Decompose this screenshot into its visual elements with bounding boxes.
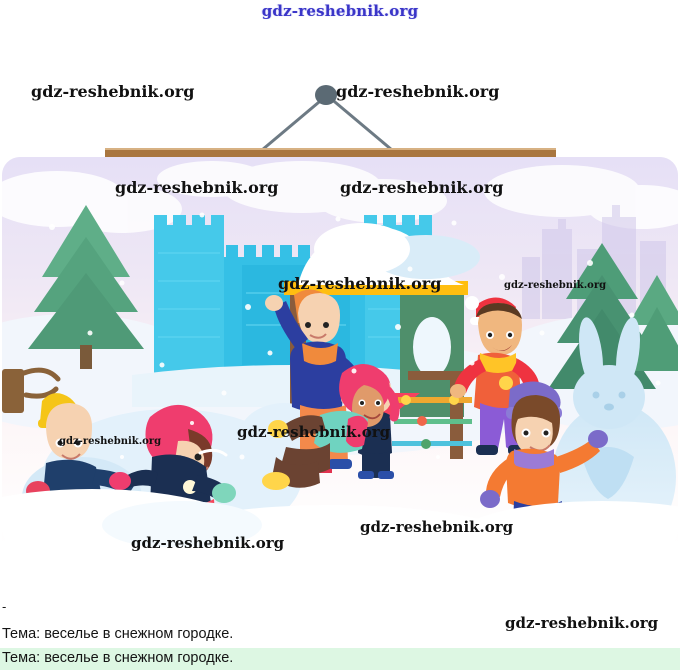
watermark-top-center: gdz-reshebnik.org [0, 2, 680, 20]
caption-line-2: Тема: веселье в снежном городке. [2, 650, 233, 666]
playhouse-window [413, 317, 451, 377]
caption-line-2-highlight: Тема: веселье в снежном городке. [0, 648, 680, 670]
winter-scene-illustration [2, 157, 678, 547]
page-root: gdz-reshebnik.org [0, 0, 680, 670]
picture-hanger [0, 80, 680, 160]
caption-line-1: Тема: веселье в снежном городке. [2, 626, 233, 642]
snow-mound-left [102, 501, 262, 547]
watermark-bottom-right: gdz-reshebnik.org [505, 614, 658, 632]
caption-dash: - [2, 599, 6, 614]
hanger-nail-icon [315, 85, 337, 105]
